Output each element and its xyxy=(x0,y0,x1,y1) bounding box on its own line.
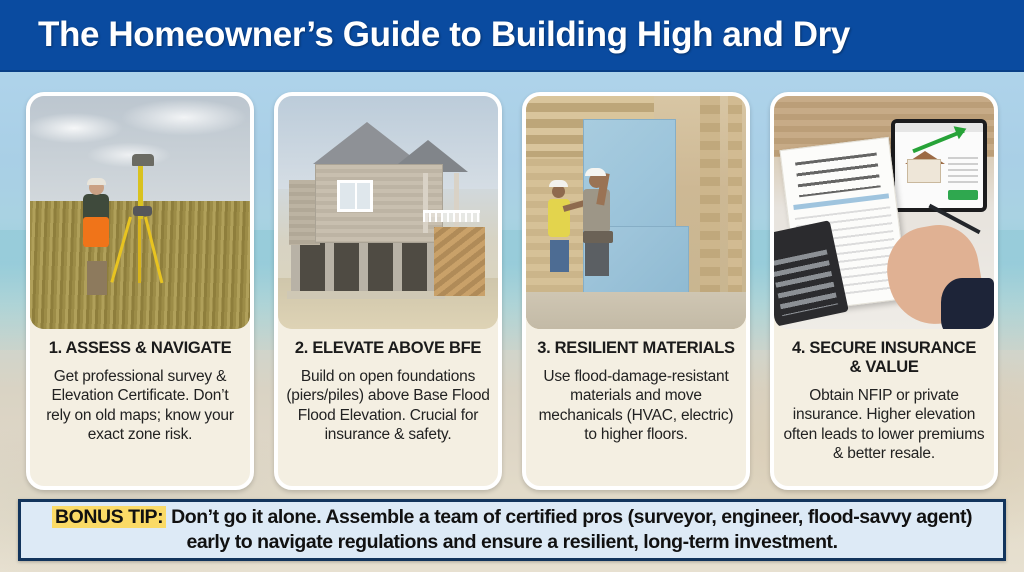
step-card-4-body: 4. SECURE INSURANCE & VALUE Obtain NFIP … xyxy=(774,329,994,486)
tablet-cta-button-shape xyxy=(948,190,978,200)
workers-installing-board-photo xyxy=(526,96,746,329)
elevated-house-on-piers-photo xyxy=(278,96,498,329)
tripod-leg-center-shape xyxy=(138,217,141,283)
step-card-3-body: 3. RESILIENT MATERIALS Use flood-damage-… xyxy=(526,329,746,486)
surveyor-in-marsh-photo xyxy=(30,96,250,329)
document-heading-lines-shape xyxy=(795,152,881,197)
bonus-tip-banner: BONUS TIP: Don’t go it alone. Assemble a… xyxy=(18,499,1006,561)
step-card-1-title: 1. ASSESS & NAVIGATE xyxy=(38,339,242,358)
step-card-1-description: Get professional survey & Elevation Cert… xyxy=(38,367,242,445)
worker-2-tool-belt-shape xyxy=(583,231,613,243)
porch-column-2-shape xyxy=(454,173,459,234)
infographic-root: The Homeowner’s Guide to Building High a… xyxy=(0,0,1024,572)
tablet-browser-bar-shape xyxy=(895,123,984,132)
step-card-4-title: 4. SECURE INSURANCE & VALUE xyxy=(782,339,986,377)
bonus-tip-label: BONUS TIP: xyxy=(52,506,166,528)
bonus-tip-body: Don’t go it alone. Assemble a team of ce… xyxy=(166,506,972,553)
header-bar: The Homeowner’s Guide to Building High a… xyxy=(0,0,1024,72)
step-card-4[interactable]: 4. SECURE INSURANCE & VALUE Obtain NFIP … xyxy=(770,92,998,490)
step-card-2-description: Build on open foundations (piers/piles) … xyxy=(286,367,490,445)
house-window-shape xyxy=(337,180,373,212)
tablet-text-lines-shape xyxy=(948,157,978,183)
flood-insurance-policy-photo xyxy=(774,96,994,329)
step-card-3-description: Use flood-damage-resistant materials and… xyxy=(534,367,738,445)
worker-1-hard-hat-shape xyxy=(549,180,568,187)
worker-2-hard-hat-shape xyxy=(585,168,606,176)
step-card-4-description: Obtain NFIP or private insurance. Higher… xyxy=(782,386,986,464)
step-card-3-title: 3. RESILIENT MATERIALS xyxy=(534,339,738,358)
tablet-screen-shape xyxy=(895,123,984,208)
tablet-device-shape xyxy=(891,119,988,212)
steps-card-row: 1. ASSESS & NAVIGATE Get professional su… xyxy=(0,92,1024,490)
step-card-2[interactable]: 2. ELEVATE ABOVE BFE Build on open found… xyxy=(274,92,502,490)
green-growth-arrow-icon xyxy=(912,128,965,152)
suit-cuff-shape xyxy=(941,278,994,329)
safety-vest-shape xyxy=(83,217,109,247)
surveyor-cap-shape xyxy=(87,178,106,185)
gps-receiver-shape xyxy=(132,154,154,166)
worker-1-legs-shape xyxy=(550,240,569,272)
step-card-2-body: 2. ELEVATE ABOVE BFE Build on open found… xyxy=(278,329,498,486)
step-card-1-body: 1. ASSESS & NAVIGATE Get professional su… xyxy=(30,329,250,486)
wooden-stairs-shape xyxy=(434,227,485,297)
step-card-3[interactable]: 3. RESILIENT MATERIALS Use flood-damage-… xyxy=(522,92,750,490)
step-card-2-title: 2. ELEVATE ABOVE BFE xyxy=(286,339,490,358)
page-title: The Homeowner’s Guide to Building High a… xyxy=(0,15,850,55)
porch-column-1-shape xyxy=(423,173,428,234)
slab-shape xyxy=(287,291,445,299)
bonus-tip-text: BONUS TIP: Don’t go it alone. Assemble a… xyxy=(31,505,993,556)
step-card-1[interactable]: 1. ASSESS & NAVIGATE Get professional su… xyxy=(26,92,254,490)
porch-railing-shape xyxy=(423,210,480,222)
concrete-floor-shape xyxy=(526,292,746,329)
tablet-house-body-shape xyxy=(907,159,941,183)
surveyor-legs-shape xyxy=(87,261,107,295)
survey-instrument-shape xyxy=(133,206,152,216)
